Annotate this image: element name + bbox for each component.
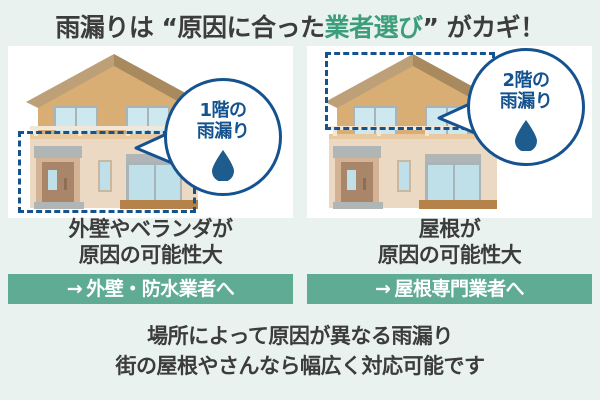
bubble-line1-left: 1階の [167, 100, 279, 121]
illustration-card-left: 1階の 雨漏り [8, 46, 293, 218]
title-prefix: 雨漏りは [55, 13, 161, 42]
caption-left-line2: 原因の可能性大 [8, 242, 293, 268]
banner-right-label: 屋根専門業者へ [394, 278, 524, 300]
caption-right-line1: 屋根が [307, 216, 592, 242]
caption-left-line1: 外壁やベランダが [8, 216, 293, 242]
footer-line1: 場所によって原因が異なる雨漏り [0, 322, 600, 350]
caption-right-line2: 原因の可能性大 [307, 242, 592, 268]
footer-line2: 街の屋根やさんなら幅広く対応可能です [0, 352, 600, 380]
panel-first-floor: 1階の 雨漏り 外壁やベランダが 原因の可能性大 →外壁・防水業者へ [8, 46, 293, 316]
caption-right: 屋根が 原因の可能性大 [307, 216, 592, 268]
title-normal-before: 原因に合った [177, 13, 324, 42]
title-quote-open: “ [162, 13, 178, 42]
speech-bubble-second-floor: 2階の 雨漏り [467, 48, 585, 166]
title-suffix: がカギ！ [438, 13, 544, 42]
infographic-root: 雨漏りは “原因に合った業者選び” がカギ！ [0, 0, 600, 400]
caption-left: 外壁やベランダが 原因の可能性大 [8, 216, 293, 268]
bubble-line1-right: 2階の [470, 70, 582, 91]
speech-bubble-first-floor: 1階の 雨漏り [164, 78, 282, 196]
arrow-right-icon: → [67, 278, 82, 300]
title-quote-close: ” [423, 13, 439, 42]
page-title: 雨漏りは “原因に合った業者選び” がカギ！ [0, 8, 600, 44]
bubble-line2-left: 雨漏り [167, 121, 279, 142]
arrow-right-icon: → [375, 278, 390, 300]
water-drop-icon [211, 149, 235, 181]
banner-right[interactable]: →屋根専門業者へ [307, 274, 592, 304]
banner-left[interactable]: →外壁・防水業者へ [8, 274, 293, 304]
bubble-line2-right: 雨漏り [470, 91, 582, 112]
title-highlight: 業者選び [325, 13, 423, 42]
panel-second-floor: 2階の 雨漏り 屋根が 原因の可能性大 →屋根専門業者へ [307, 46, 592, 316]
illustration-card-right: 2階の 雨漏り [307, 46, 592, 218]
water-drop-icon [514, 119, 538, 151]
banner-left-label: 外壁・防水業者へ [86, 278, 234, 300]
